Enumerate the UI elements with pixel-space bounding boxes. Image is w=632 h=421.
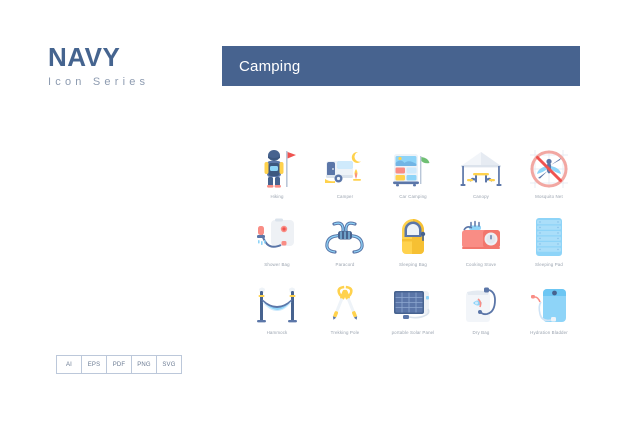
hammock-icon bbox=[253, 281, 301, 329]
icon-cell-hiking[interactable]: Hiking bbox=[243, 145, 311, 213]
icon-label: Trekking Pole bbox=[331, 331, 360, 335]
icon-label: Canopy bbox=[473, 195, 489, 199]
icon-cell-hydration-bladder[interactable]: Hydration Bladder bbox=[515, 281, 583, 349]
format-badges: AI EPS PDF PNG SVG bbox=[56, 355, 181, 374]
icon-label: Hydration Bladder bbox=[530, 331, 568, 335]
icon-label: Hiking bbox=[270, 195, 283, 199]
icon-cell-portable-solar-panel[interactable]: portable Solar Panel bbox=[379, 281, 447, 349]
icon-cell-dry-bag[interactable]: Dry Bag bbox=[447, 281, 515, 349]
icon-label: Mosquito Net bbox=[535, 195, 563, 199]
icon-cell-mosquito-net[interactable]: Mosquito Net bbox=[515, 145, 583, 213]
mosquito-net-icon bbox=[525, 145, 573, 193]
icon-cell-sleeping-bag[interactable]: Sleeping Bag bbox=[379, 213, 447, 281]
format-badge-png[interactable]: PNG bbox=[131, 355, 157, 374]
hiking-icon bbox=[253, 145, 301, 193]
trekking-pole-icon bbox=[321, 281, 369, 329]
canopy-icon bbox=[457, 145, 505, 193]
sleeping-bag-icon bbox=[389, 213, 437, 261]
icon-cell-camper[interactable]: Camper bbox=[311, 145, 379, 213]
icon-label: Shower Bag bbox=[264, 263, 289, 267]
icon-label: Car Camping bbox=[399, 195, 427, 199]
paracord-icon bbox=[321, 213, 369, 261]
hydration-bladder-icon bbox=[525, 281, 573, 329]
brand-title: NAVY bbox=[48, 44, 149, 70]
camper-icon bbox=[321, 145, 369, 193]
icon-cell-sleeping-pad[interactable]: Sleeping Pad bbox=[515, 213, 583, 281]
icon-cell-paracord[interactable]: Paracord bbox=[311, 213, 379, 281]
cooking-stove-icon bbox=[457, 213, 505, 261]
icon-grid: Hiking Camper bbox=[243, 145, 583, 349]
format-badge-ai[interactable]: AI bbox=[56, 355, 82, 374]
icon-cell-trekking-pole[interactable]: Trekking Pole bbox=[311, 281, 379, 349]
format-badge-pdf[interactable]: PDF bbox=[106, 355, 132, 374]
icon-label: Paracord bbox=[335, 263, 354, 267]
icon-label: Camper bbox=[337, 195, 354, 199]
portable-solar-panel-icon bbox=[389, 281, 437, 329]
format-badge-eps[interactable]: EPS bbox=[81, 355, 107, 374]
icon-label: Sleeping Pad bbox=[535, 263, 563, 267]
icon-cell-canopy[interactable]: Canopy bbox=[447, 145, 515, 213]
icon-label: Hammock bbox=[267, 331, 288, 335]
category-banner: Camping bbox=[222, 46, 580, 86]
icon-label: portable Solar Panel bbox=[392, 331, 435, 335]
shower-bag-icon bbox=[253, 213, 301, 261]
icon-label: Cooking Stove bbox=[466, 263, 497, 267]
dry-bag-icon bbox=[457, 281, 505, 329]
brand-block: NAVY Icon Series bbox=[48, 44, 149, 88]
icon-label: Sleeping Bag bbox=[399, 263, 427, 267]
car-camping-icon bbox=[389, 145, 437, 193]
banner-title: Camping bbox=[222, 58, 300, 75]
icon-cell-hammock[interactable]: Hammock bbox=[243, 281, 311, 349]
icon-cell-car-camping[interactable]: Car Camping bbox=[379, 145, 447, 213]
sleeping-pad-icon bbox=[525, 213, 573, 261]
icon-cell-cooking-stove[interactable]: Cooking Stove bbox=[447, 213, 515, 281]
icon-cell-shower-bag[interactable]: Shower Bag bbox=[243, 213, 311, 281]
icon-label: Dry Bag bbox=[473, 331, 490, 335]
brand-subtitle: Icon Series bbox=[48, 77, 149, 88]
format-badge-svg[interactable]: SVG bbox=[156, 355, 182, 374]
